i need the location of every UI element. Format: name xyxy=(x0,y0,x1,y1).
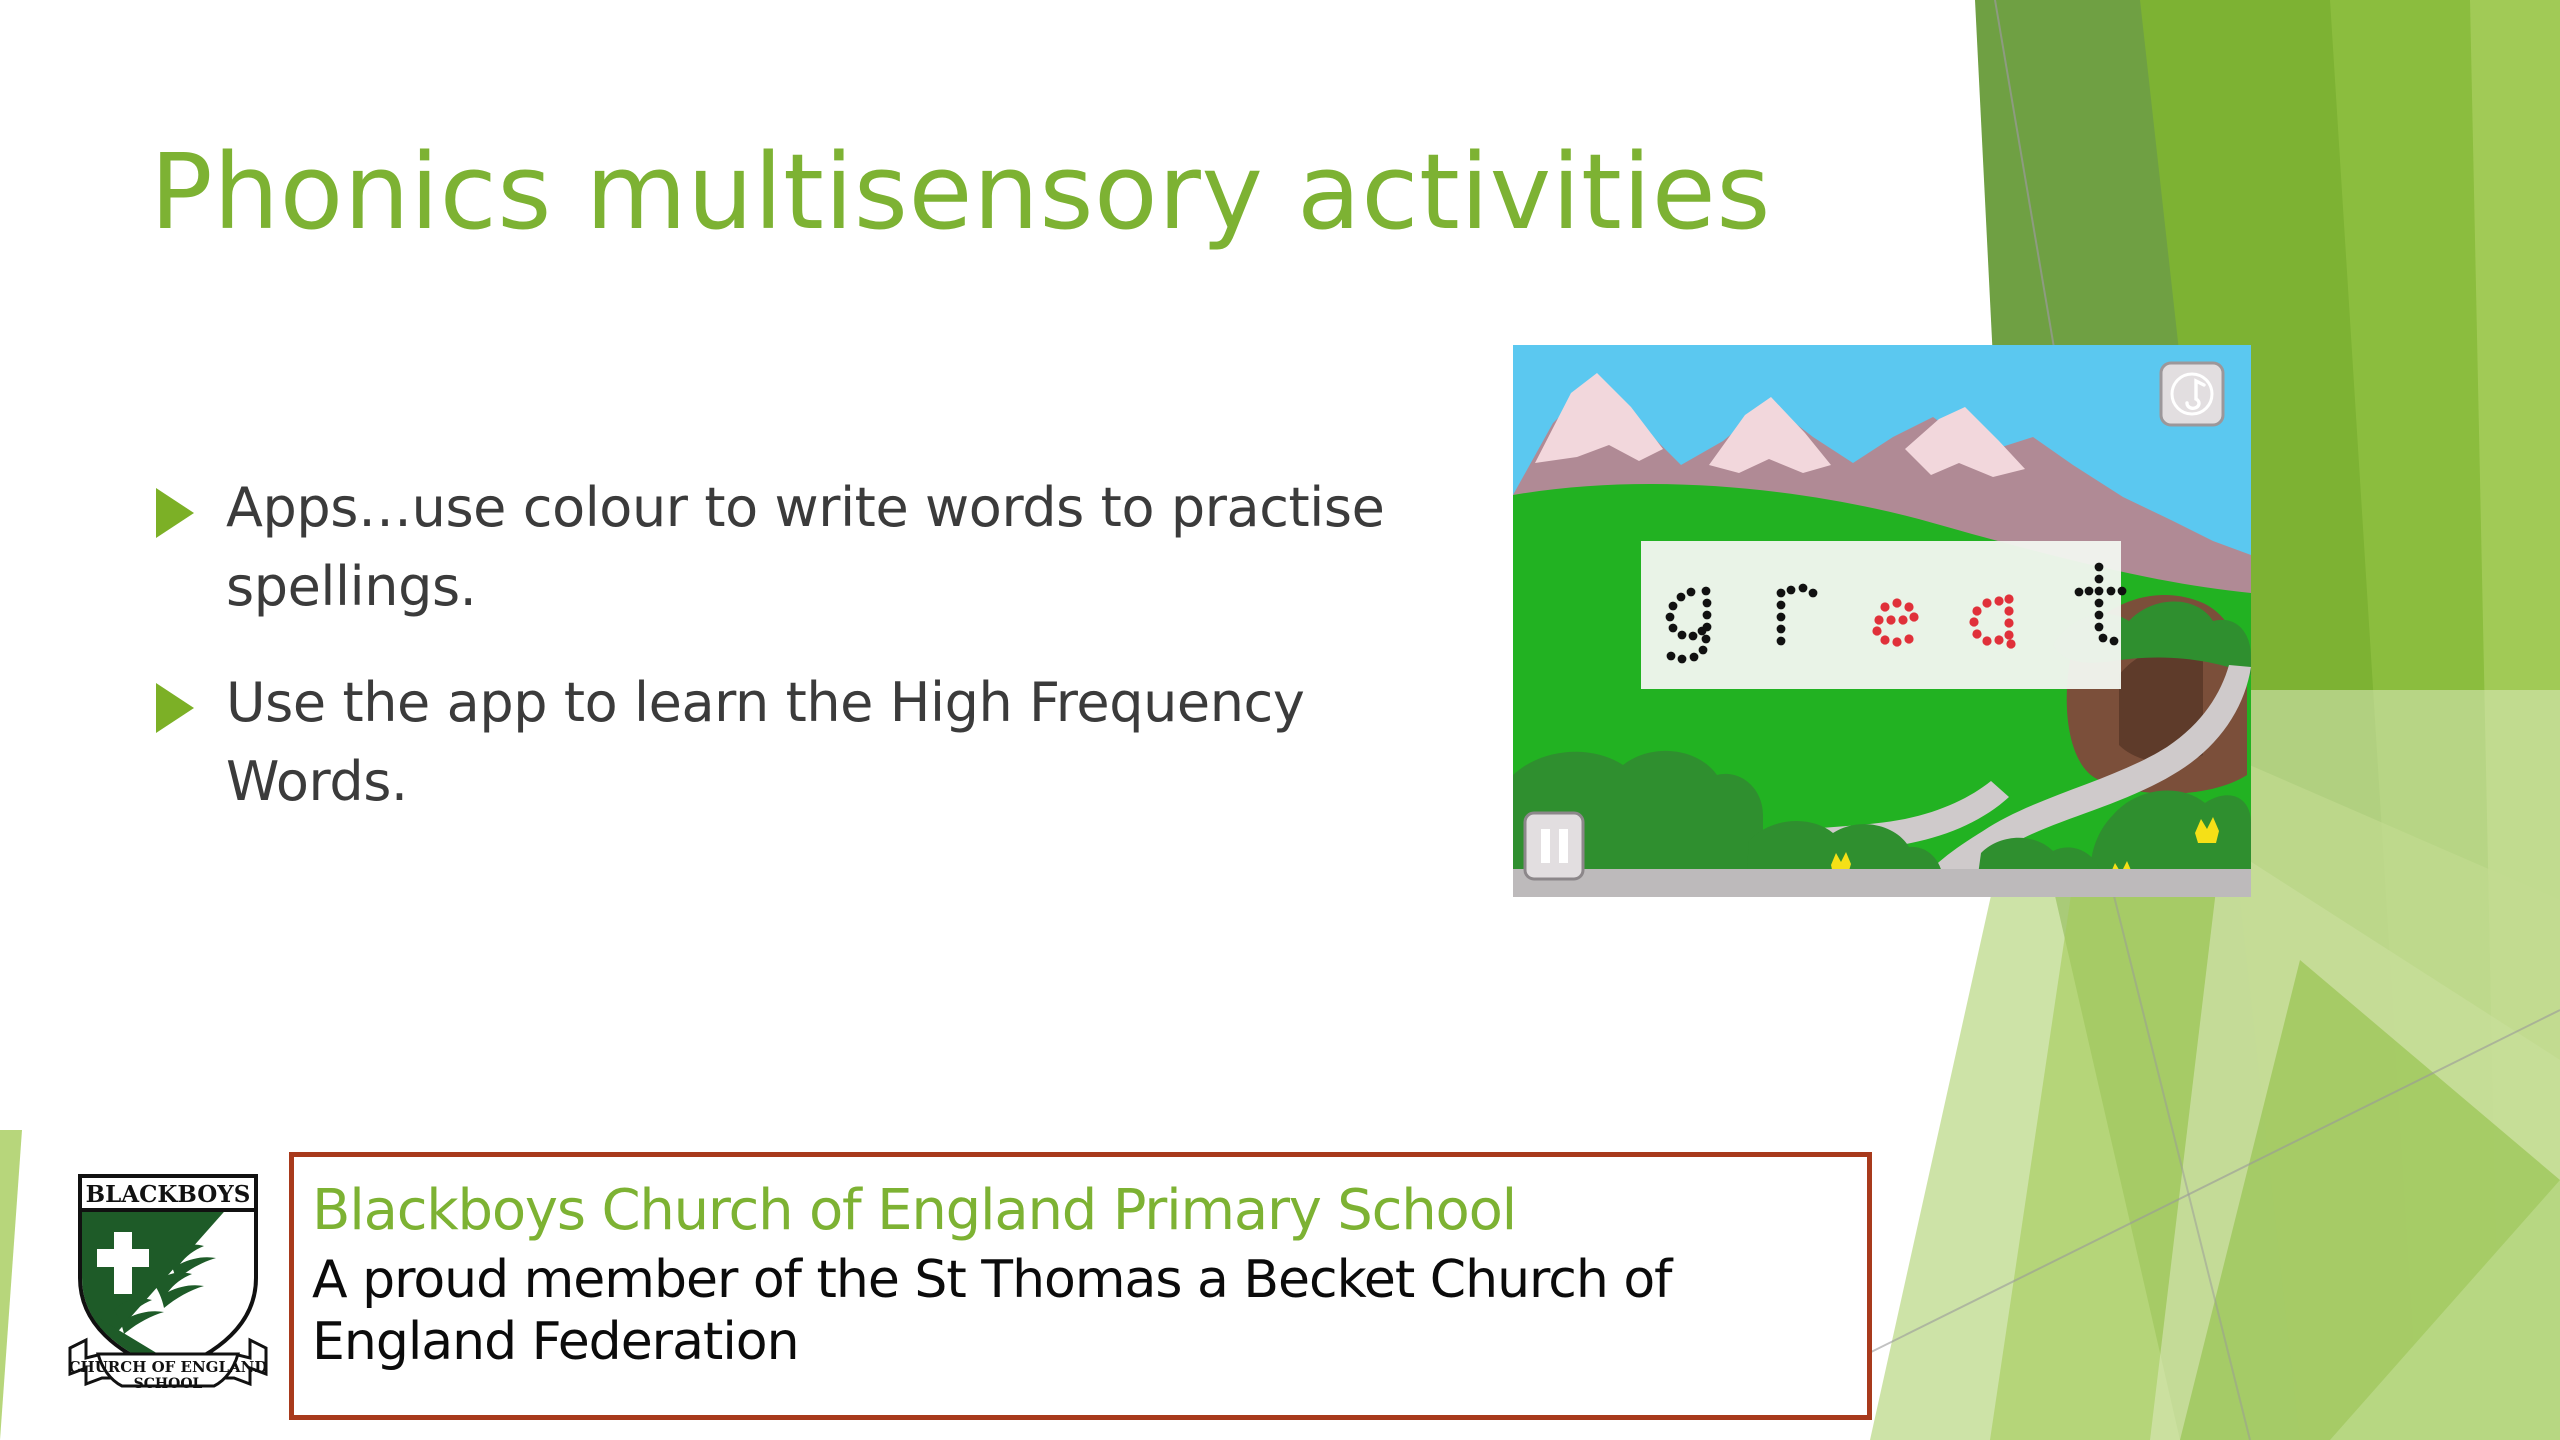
deco-wedge-bottom xyxy=(2330,1180,2560,1440)
deco-hairline-diagonal xyxy=(2110,880,2250,1440)
deco-sliver-left xyxy=(0,1130,22,1440)
app-bottom-bar xyxy=(1513,869,2251,897)
crest-ribbon-line2: SCHOOL xyxy=(134,1376,203,1392)
slide-title: Phonics multisensory activities xyxy=(150,136,1950,248)
triangle-right-bullet-icon xyxy=(156,683,194,733)
triangle-right-bullet-icon xyxy=(156,488,194,538)
federation-line: A proud member of the St Thomas a Becket… xyxy=(312,1250,1849,1373)
pause-button xyxy=(1525,813,1583,879)
deco-shape-pale-green xyxy=(2470,0,2560,1440)
slide-body-list: Apps…use colour to write words to practi… xyxy=(150,468,1440,858)
phonics-app-screenshot xyxy=(1513,345,2251,897)
deco-shape-light-green xyxy=(2330,0,2560,1440)
crest-ribbon-line1: CHURCH OF ENGLAND xyxy=(69,1358,268,1376)
school-name: Blackboys Church of England Primary Scho… xyxy=(312,1179,1849,1242)
presentation-slide: Phonics multisensory activities Apps…use… xyxy=(0,0,2560,1440)
list-item: Use the app to learn the High Frequency … xyxy=(150,663,1440,822)
music-note-button xyxy=(2161,363,2223,425)
blackboys-church-of-england-school-crest: BLACKBOYS CHURCH OF ENGLAND SCHOOL xyxy=(58,1158,278,1396)
list-item-label: Use the app to learn the High Frequency … xyxy=(226,671,1304,813)
list-item-label: Apps…use colour to write words to practi… xyxy=(226,476,1384,618)
list-item: Apps…use colour to write words to practi… xyxy=(150,468,1440,627)
deco-hairline-bottom xyxy=(1855,1010,2560,1360)
app-word-panel xyxy=(1641,541,2121,689)
school-footer-box: Blackboys Church of England Primary Scho… xyxy=(289,1152,1872,1420)
deco-wedge-pale-4 xyxy=(2180,960,2560,1440)
crest-top-text: BLACKBOYS xyxy=(86,1181,251,1208)
